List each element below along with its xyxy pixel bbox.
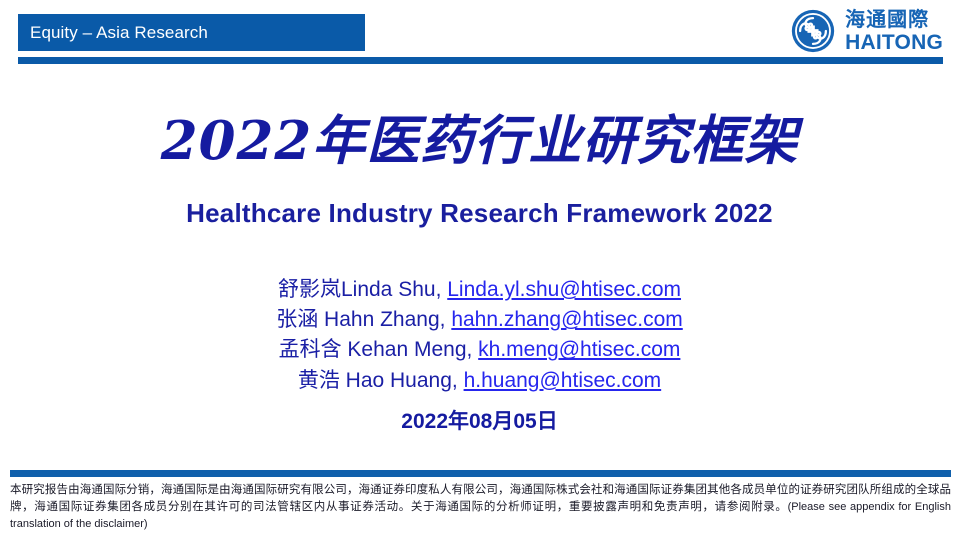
- footer-divider-rule: [10, 470, 951, 477]
- author-name: 张涵 Hahn Zhang,: [276, 308, 451, 331]
- haitong-logo: 海通國際 HAITONG: [790, 8, 943, 54]
- slide-title-english: Healthcare Industry Research Framework 2…: [0, 198, 959, 229]
- haitong-logo-chinese: 海通國際: [845, 10, 943, 30]
- header-band-label: Equity – Asia Research: [30, 23, 208, 43]
- header-band: Equity – Asia Research: [18, 14, 365, 51]
- slide-root: Equity – Asia Research 海通國際 HAITONG: [0, 0, 959, 539]
- author-entry: 孟科含 Kehan Meng, kh.meng@htisec.com: [0, 335, 959, 365]
- publication-date: 2022年08月05日: [0, 405, 959, 435]
- author-entry: 舒影岚Linda Shu, Linda.yl.shu@htisec.com: [0, 275, 959, 305]
- author-name: 舒影岚Linda Shu,: [278, 278, 447, 301]
- author-name: 黄浩 Hao Huang,: [298, 369, 464, 392]
- author-email-link[interactable]: Linda.yl.shu@htisec.com: [447, 278, 681, 301]
- header-divider-rule: [18, 57, 943, 64]
- slide-title-chinese: 2022年医药行业研究框架: [0, 111, 959, 172]
- haitong-logo-text: 海通國際 HAITONG: [845, 10, 943, 53]
- author-email-link[interactable]: hahn.zhang@htisec.com: [451, 308, 682, 331]
- haitong-circular-emblem-icon: [790, 8, 836, 54]
- author-email-link[interactable]: kh.meng@htisec.com: [478, 338, 680, 361]
- author-list: 舒影岚Linda Shu, Linda.yl.shu@htisec.com 张涵…: [0, 275, 959, 396]
- haitong-logo-english: HAITONG: [845, 32, 943, 53]
- disclaimer-text: 本研究报告由海通国际分销，海通国际是由海通国际研究有限公司，海通证券印度私人有限…: [10, 481, 951, 533]
- author-entry: 黄浩 Hao Huang, h.huang@htisec.com: [0, 366, 959, 396]
- author-entry: 张涵 Hahn Zhang, hahn.zhang@htisec.com: [0, 305, 959, 335]
- author-email-link[interactable]: h.huang@htisec.com: [464, 369, 662, 392]
- author-name: 孟科含 Kehan Meng,: [279, 338, 479, 361]
